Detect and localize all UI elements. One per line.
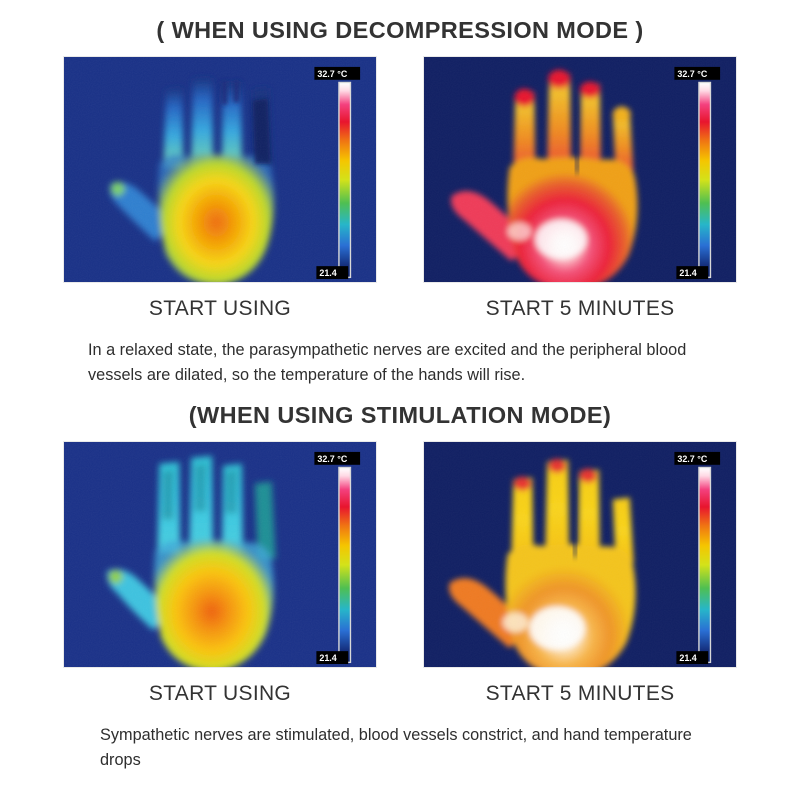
- paragraph-decompression: In a relaxed state, the parasympathetic …: [88, 338, 728, 389]
- svg-text:21.4: 21.4: [679, 653, 696, 663]
- caption-stimulation-5min: START 5 MINUTES: [423, 682, 737, 706]
- thermal-image-decompression-start: 32.7 °C 21.4: [63, 56, 377, 283]
- thermal-image-stimulation-5min: 32.7 °C 21.4: [423, 441, 737, 668]
- caption-row-stimulation: START USING START 5 MINUTES: [0, 682, 800, 706]
- caption-decompression-5min: START 5 MINUTES: [423, 297, 737, 321]
- thermal-image-row-decompression: 32.7 °C 21.4: [0, 56, 800, 283]
- svg-text:32.7 °C: 32.7 °C: [317, 454, 347, 464]
- thermal-comparison-infographic: ( WHEN USING DECOMPRESSION MODE ): [0, 0, 800, 800]
- thermal-image-stimulation-start: 32.7 °C 21.4: [63, 441, 377, 668]
- caption-row-decompression: START USING START 5 MINUTES: [0, 297, 800, 321]
- thermal-image-decompression-5min: 32.7 °C 21.4: [423, 56, 737, 283]
- svg-text:21.4: 21.4: [319, 268, 336, 278]
- caption-stimulation-start: START USING: [63, 682, 377, 706]
- svg-text:21.4: 21.4: [319, 653, 336, 663]
- section-heading-decompression: ( WHEN USING DECOMPRESSION MODE ): [0, 0, 800, 43]
- section-heading-stimulation: (WHEN USING STIMULATION MODE): [0, 388, 800, 428]
- caption-decompression-start: START USING: [63, 297, 377, 321]
- thermal-image-row-stimulation: 32.7 °C 21.4: [0, 441, 800, 668]
- svg-text:21.4: 21.4: [679, 268, 696, 278]
- paragraph-stimulation: Sympathetic nerves are stimulated, blood…: [100, 723, 720, 774]
- svg-text:32.7 °C: 32.7 °C: [677, 454, 707, 464]
- svg-text:32.7 °C: 32.7 °C: [317, 68, 347, 78]
- svg-text:32.7 °C: 32.7 °C: [677, 68, 707, 78]
